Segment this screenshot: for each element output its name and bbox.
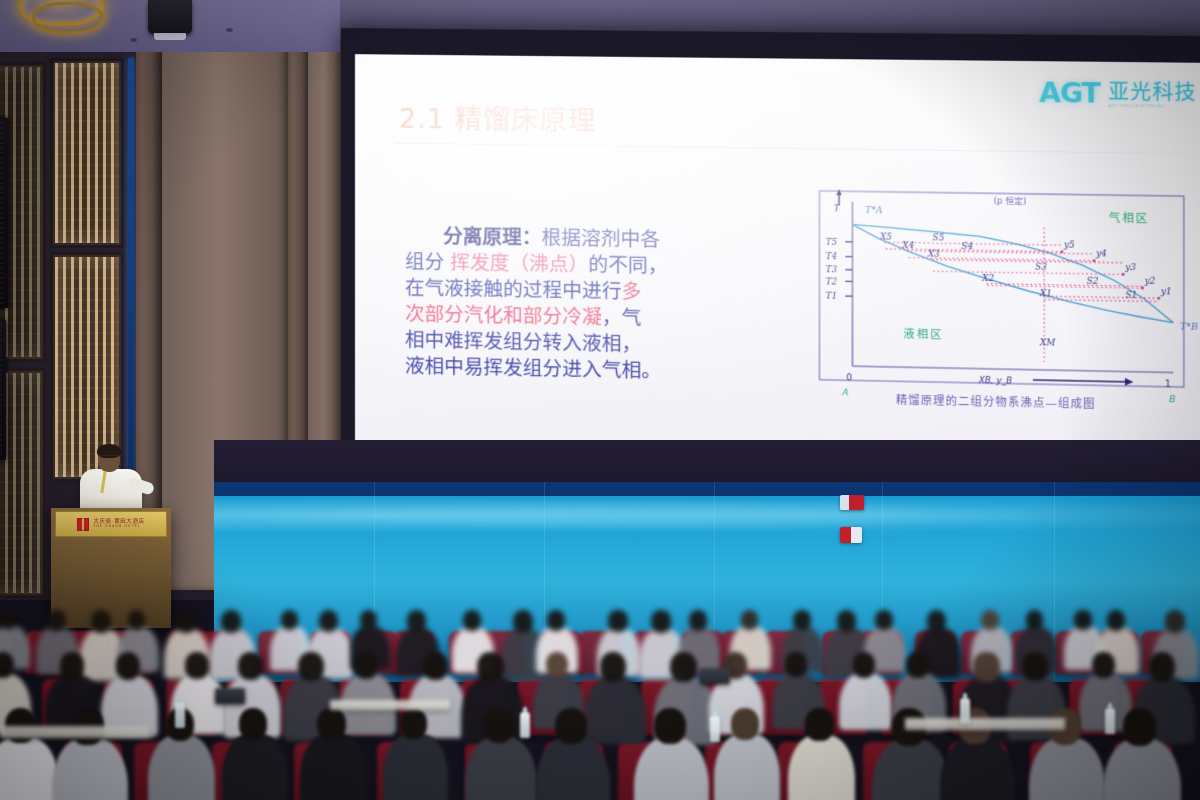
conference-room-scene: AGT 亚光科技 AGT OPTO-ELECTRONIC 2.1 精馏床原理 分… (0, 0, 1200, 800)
audience-member-body (1103, 739, 1181, 800)
svg-text:X4: X4 (901, 241, 914, 251)
ceiling-projector (148, 0, 192, 34)
audience-member-body (465, 737, 537, 800)
svg-text:T1: T1 (826, 292, 837, 302)
audience-member-head (689, 610, 707, 631)
audience-member (394, 708, 464, 800)
audience-member-body (148, 735, 215, 800)
lattice-panel-2 (50, 58, 124, 248)
svg-text:(p 恒定): (p 恒定) (994, 195, 1027, 207)
logo-company-name-cn: 亚光科技 (1108, 81, 1196, 103)
audience-member-head (1026, 610, 1044, 630)
audience-member-head (555, 708, 587, 744)
audience-member-head (670, 652, 697, 682)
audience-table (330, 700, 450, 710)
audience-member-head (1092, 652, 1115, 678)
svg-text:S5: S5 (933, 233, 945, 243)
body-line-4-b: ，气 (602, 306, 642, 330)
audience-member-head (906, 652, 929, 678)
laptop (215, 688, 245, 704)
audience-member-body (872, 739, 950, 800)
audience-member-head (837, 610, 857, 632)
audience-member-head (185, 652, 209, 679)
logo-company-sub: AGT OPTO-ELECTRONIC (1108, 103, 1196, 108)
svg-text:y1: y1 (1160, 287, 1172, 297)
audience-member-head (298, 652, 324, 681)
svg-text:T*B: T*B (1180, 322, 1198, 333)
audience-member-head (176, 610, 196, 633)
water-bottle (1105, 708, 1115, 734)
svg-text:y5: y5 (1063, 241, 1075, 251)
presenter-glasses (99, 455, 119, 460)
audience-member-head (400, 708, 428, 739)
body-line-1-rest: 根据溶剂中各 (541, 226, 660, 251)
audience-member-head (221, 610, 241, 633)
audience-member-head (60, 652, 84, 680)
audience-member (1116, 708, 1200, 800)
laptop (700, 668, 730, 684)
svg-text:T4: T4 (826, 252, 837, 262)
svg-text:XM: XM (1039, 338, 1056, 349)
body-line-2-b: 的不同， (588, 253, 667, 278)
audience-member-body (0, 737, 59, 800)
svg-text:X2: X2 (981, 273, 994, 283)
audience-member-head (973, 652, 999, 682)
svg-text:X3: X3 (927, 249, 940, 259)
audience-member-head (741, 610, 758, 630)
audience-member-head (1074, 610, 1091, 630)
water-bottle (710, 716, 720, 742)
svg-text:X5: X5 (879, 232, 892, 242)
audience-member-body (788, 735, 856, 800)
projection-screen-frame: AGT 亚光科技 AGT OPTO-ELECTRONIC 2.1 精馏床原理 分… (341, 28, 1200, 501)
audience-member (725, 708, 797, 800)
audience-member-head (875, 610, 893, 630)
svg-text:气相区: 气相区 (1109, 211, 1150, 226)
audience-member-head (47, 610, 65, 631)
audience-member-head (654, 708, 686, 744)
ceiling-fixture-dot-2 (130, 38, 137, 42)
audience-member-head (354, 652, 378, 679)
audience-member-body (222, 734, 288, 800)
audience-member (549, 708, 629, 800)
audience-member-head (608, 610, 627, 632)
water-bottle (520, 712, 530, 738)
audience-member-head (1149, 652, 1176, 682)
audience-member-head (805, 708, 834, 741)
body-line-3-a: 在气液接触的过程中进行 (405, 276, 622, 303)
phase-diagram-chart: T1T2T3T4T5 X5X4X3X2X1XMy5y4y3y2y1S5S4S3S… (793, 186, 1200, 418)
audience-member-head (239, 708, 267, 740)
svg-text:y3: y3 (1124, 263, 1136, 273)
body-line-3-highlight: 多 (622, 280, 642, 304)
svg-text:0: 0 (846, 373, 852, 383)
audience-member-head (407, 610, 426, 632)
audience-member-head (1165, 610, 1185, 633)
svg-text:S4: S4 (961, 242, 973, 252)
audience-member-head (1123, 708, 1156, 746)
venue-sign-en: THE GRAND HOTEL (93, 525, 140, 529)
audience-member-head (319, 610, 339, 632)
svg-text:T2: T2 (826, 277, 837, 287)
svg-text:T: T (834, 204, 841, 214)
audience-member-head (484, 708, 515, 743)
presentation-slide: AGT 亚光科技 AGT OPTO-ELECTRONIC 2.1 精馏床原理 分… (355, 54, 1200, 501)
audience-member-head (547, 610, 565, 631)
audience-member-head (793, 610, 811, 630)
audience-member-head (463, 610, 481, 631)
company-logo: AGT 亚光科技 AGT OPTO-ELECTRONIC (1039, 80, 1196, 109)
svg-text:液相区: 液相区 (903, 326, 943, 341)
audience-member-head (91, 610, 112, 633)
audience-member-head (1107, 610, 1125, 631)
audience-member-body (52, 738, 128, 800)
audience-member-head (651, 610, 671, 633)
audience-member-head (600, 652, 626, 682)
audience-member-head (128, 610, 146, 630)
audience-member-head (546, 652, 568, 677)
audience-member-head (477, 652, 504, 682)
audience-member-head (927, 610, 947, 632)
body-line-6: 液相中易挥发组分进入气相。 (405, 353, 739, 386)
svg-text:S3: S3 (1035, 263, 1047, 273)
audience-member-head (116, 652, 141, 680)
audience-member-head (853, 652, 876, 678)
wall-speaker-lower (0, 320, 6, 460)
svg-text:XB, y_B: XB, y_B (978, 376, 1013, 387)
audience-member-body (940, 738, 1015, 800)
audience-member-head (238, 652, 263, 680)
audience-member-head (1022, 652, 1047, 681)
audience-member-body (1029, 738, 1104, 800)
audience-table (0, 726, 150, 738)
title-divider (395, 143, 1186, 154)
svg-text:T5: T5 (826, 237, 837, 247)
svg-text:1: 1 (1165, 380, 1171, 390)
svg-text:S2: S2 (1087, 277, 1099, 287)
wall-speaker (0, 118, 8, 308)
svg-text:T3: T3 (826, 265, 837, 275)
body-line-1-label: 分离原理： (443, 225, 541, 250)
slide-title: 2.1 精馏床原理 (399, 97, 596, 139)
audience-area (0, 540, 1200, 800)
audience-member-body (300, 734, 367, 800)
svg-text:y2: y2 (1144, 277, 1156, 287)
svg-text:X1: X1 (1039, 289, 1052, 299)
audience-member-head (281, 610, 299, 630)
emergency-panel-upper (840, 495, 864, 510)
venue-sign: 大庆辰·莆田大酒店 THE GRAND HOTEL (55, 511, 167, 537)
audience-member-body (536, 737, 610, 800)
slide-body-text: 分离原理：根据溶剂中各 组分 挥发度（沸点）的不同， 在气液接触的过程中进行多 … (405, 223, 739, 386)
audience-table (905, 718, 1065, 730)
audience-member-head (360, 610, 377, 630)
svg-text:S1: S1 (1125, 291, 1137, 301)
logo-agt-mark: AGT (1039, 80, 1100, 108)
body-line-2-highlight: 挥发度（沸点） (450, 251, 588, 276)
audience-member-head (731, 708, 759, 740)
audience-member-head (785, 652, 807, 677)
blue-accent-strip (128, 58, 134, 478)
audience-member (799, 708, 872, 800)
audience-member-body (634, 738, 709, 800)
svg-text:T*A: T*A (865, 206, 883, 216)
audience-member-head (0, 610, 17, 629)
svg-text:y4: y4 (1095, 249, 1107, 259)
audience-member (312, 708, 384, 800)
audience-member-body (714, 734, 780, 800)
water-bottle (175, 702, 185, 728)
water-bottle (960, 698, 970, 724)
body-line-2-a: 组分 (405, 250, 450, 274)
audience-member-head (423, 652, 448, 680)
hotel-logo-icon (77, 518, 89, 531)
audience-member (233, 708, 304, 800)
audience-member-body (383, 734, 448, 800)
audience-member-head (981, 610, 999, 630)
audience-member-head (513, 610, 533, 633)
audience-member-head (317, 708, 346, 740)
audience-member (65, 708, 147, 800)
body-line-4-highlight: 次部分汽化和部分冷凝 (405, 302, 602, 329)
ceiling-fixture-dot (226, 28, 233, 32)
